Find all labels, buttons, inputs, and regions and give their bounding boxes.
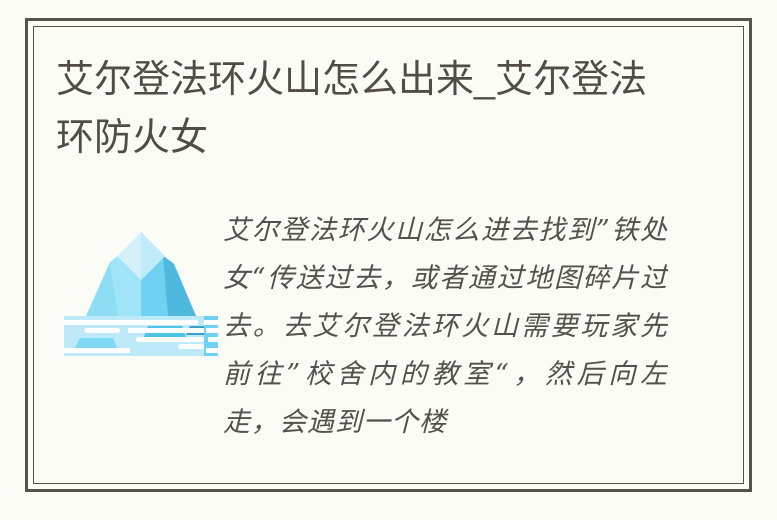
article-title: 艾尔登法环火山怎么出来_艾尔登法环防火女 [56,51,671,167]
article-excerpt: 艾尔登法环火山怎么进去找到”铁处女“传送过去，或者通过地图碎片过去。去艾尔登法环… [223,207,668,447]
iceberg-icon [58,204,218,356]
article-card-page: 艾尔登法环火山怎么出来_艾尔登法环防火女 [0,0,777,520]
article-thumbnail [58,204,218,356]
card-content: 艾尔登法环火山怎么出来_艾尔登法环防火女 [33,26,744,484]
